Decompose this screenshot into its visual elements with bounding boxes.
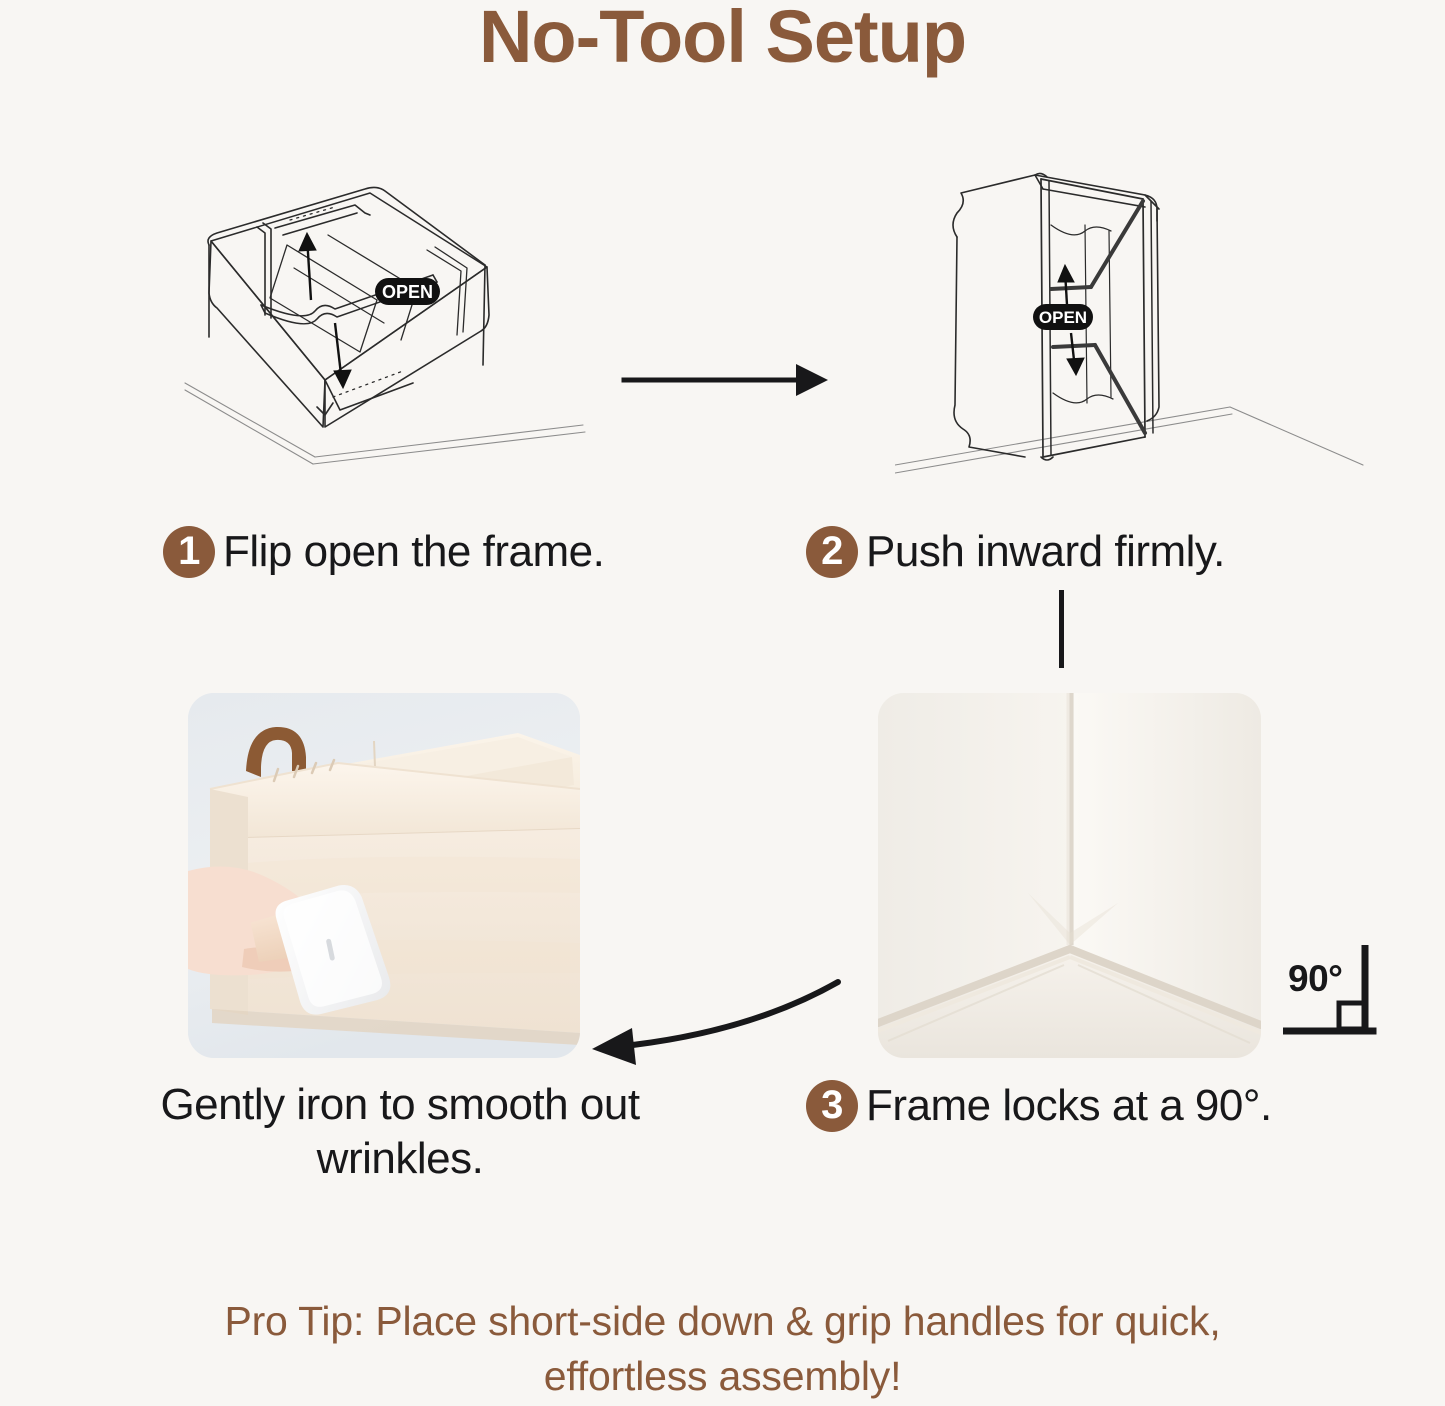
- step-3-number-badge: 3: [806, 1080, 858, 1132]
- pro-tip-line-1: Pro Tip: Place short-side down & grip ha…: [110, 1294, 1335, 1349]
- step-1-illustration: OPEN: [165, 175, 595, 520]
- page-title: No-Tool Setup: [0, 0, 1445, 77]
- step-1-number-badge: 1: [163, 526, 215, 578]
- open-badge-step1: OPEN: [375, 278, 440, 305]
- pro-tip: Pro Tip: Place short-side down & grip ha…: [110, 1294, 1335, 1405]
- step-3-caption: 3 Frame locks at a 90°.: [806, 1080, 1272, 1132]
- iron-step-caption: Gently iron to smooth out wrinkles.: [150, 1078, 650, 1185]
- connector-step2-to-step3: [1059, 590, 1064, 668]
- open-badge-step2: OPEN: [1033, 304, 1093, 330]
- step-1-caption: 1 Flip open the frame.: [163, 526, 604, 578]
- steamer-photo: [188, 693, 580, 1058]
- iron-step-caption-text: Gently iron to smooth out wrinkles.: [160, 1080, 639, 1183]
- right-angle-icon: [1283, 945, 1383, 1041]
- svg-text:OPEN: OPEN: [382, 282, 433, 302]
- corner-photo: [878, 693, 1261, 1058]
- step-1-caption-text: Flip open the frame.: [223, 527, 604, 577]
- step-2-number-badge: 2: [806, 526, 858, 578]
- step-2-illustration: OPEN: [895, 165, 1365, 520]
- step-2-caption-text: Push inward firmly.: [866, 527, 1225, 577]
- svg-text:OPEN: OPEN: [1039, 308, 1087, 327]
- step-2-caption: 2 Push inward firmly.: [806, 526, 1225, 578]
- step-3-caption-text: Frame locks at a 90°.: [866, 1081, 1272, 1131]
- arrow-step3-to-iron: [580, 970, 850, 1070]
- arrow-step1-to-step2: [620, 355, 835, 405]
- pro-tip-line-2: effortless assembly!: [110, 1349, 1335, 1404]
